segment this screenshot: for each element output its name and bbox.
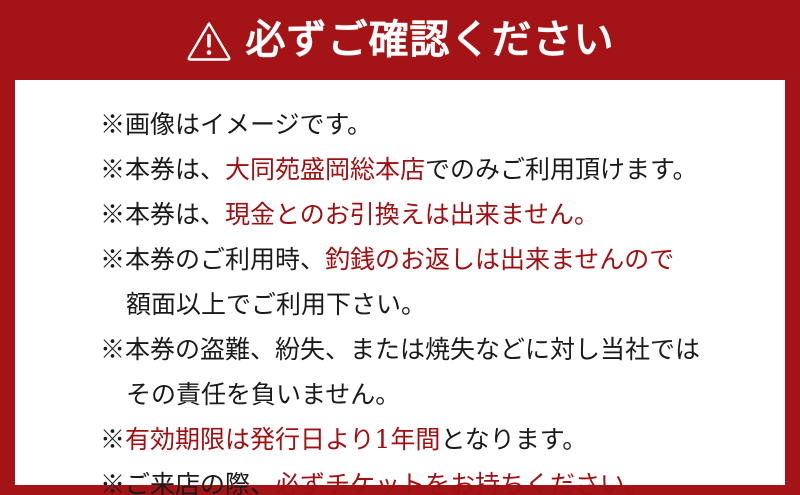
notice-store-only: ※本券は、大同苑盛岡総本店でのみご利用頂けます。 — [100, 147, 775, 192]
notice-text: ※本券のご利用時、 — [100, 245, 325, 274]
notices-panel: ※画像はイメージです。※本券は、大同苑盛岡総本店でのみご利用頂けます。※本券は、… — [15, 80, 785, 485]
notice-text: ※ご来店の際、 — [100, 470, 275, 495]
warning-triangle-icon — [186, 20, 232, 62]
notice-no-change: ※本券のご利用時、釣銭のお返しは出来ませんので額面以上でご利用下さい。 — [100, 237, 775, 327]
notice-no-liability: ※本券の盗難、紛失、または焼失などに対し当社ではその責任を負いません。 — [100, 327, 775, 417]
notice-list: ※画像はイメージです。※本券は、大同苑盛岡総本店でのみご利用頂けます。※本券は、… — [100, 102, 775, 495]
notice-continuation-line: 額面以上でご利用下さい。 — [100, 282, 775, 327]
notice-image-is-sample: ※画像はイメージです。 — [100, 102, 775, 147]
notice-text: ※本券の盗難、紛失、または焼失などに対し当社では — [100, 335, 700, 364]
notice-emphasis-text: 現金とのお引換えは出来ません。 — [225, 200, 599, 229]
notice-text: ※画像はイメージです。 — [100, 110, 372, 139]
notice-emphasis-text: 必ずチケットをお持ちください。 — [275, 470, 650, 495]
notice-emphasis-text: 有効期限は発行日より1年間 — [125, 425, 440, 454]
notice-card: 必ずご確認ください ※画像はイメージです。※本券は、大同苑盛岡総本店でのみご利用… — [0, 0, 800, 495]
header-banner: 必ずご確認ください — [0, 0, 800, 80]
notice-text: ※本券は、 — [100, 155, 225, 184]
notice-no-cash-exchange: ※本券は、現金とのお引換えは出来ません。 — [100, 192, 775, 237]
notice-bring-ticket: ※ご来店の際、必ずチケットをお持ちください。 — [100, 462, 775, 495]
notice-emphasis-text: 釣銭のお返しは出来ませんので — [325, 245, 674, 274]
notice-text: ※ — [100, 425, 125, 454]
notice-continuation-line: その責任を負いません。 — [100, 372, 775, 417]
notice-text: その責任を負いません。 — [126, 380, 400, 409]
notice-text: でのみご利用頂けます。 — [425, 155, 698, 184]
notice-text: となります。 — [440, 425, 587, 454]
notice-text: ※本券は、 — [100, 200, 225, 229]
page-title: 必ずご確認ください — [246, 20, 615, 60]
notice-validity-one-year: ※有効期限は発行日より1年間となります。 — [100, 417, 775, 462]
notice-emphasis-text: 大同苑盛岡総本店 — [225, 155, 425, 184]
notice-text: 額面以上でご利用下さい。 — [126, 290, 426, 319]
